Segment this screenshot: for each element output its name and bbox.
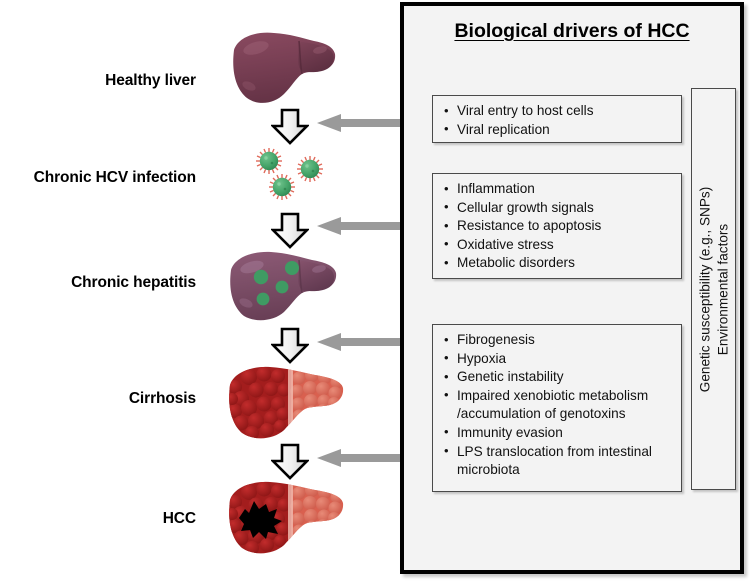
healthy-liver-icon — [228, 28, 338, 108]
inflammation-drivers-box: Inflammation Cellular growth signals Res… — [432, 173, 682, 279]
genetics-line-2: Environmental factors — [714, 186, 732, 392]
bullet-item: Inflammation — [443, 180, 677, 199]
bullet-item: Fibrogenesis — [443, 331, 677, 350]
stage-label-healthy-liver: Healthy liver — [0, 72, 196, 90]
bullet-item: Genetic instability — [443, 368, 677, 387]
stage-label-chronic-hepatitis: Chronic hepatitis — [0, 274, 196, 292]
bullet-item: Resistance to apoptosis — [443, 217, 677, 236]
stage-label-chronic-hcv-infection: Chronic HCV infection — [0, 169, 196, 187]
bullet-item: Viral replication — [443, 121, 677, 140]
cirrhotic-liver-icon — [225, 361, 347, 443]
genetics-line-1: Genetic susceptibility (e.g., SNPs) — [696, 186, 714, 392]
progression-down-arrow — [271, 212, 309, 249]
figure-canvas: Healthy liver Chronic HCV infection Chro… — [0, 0, 750, 582]
progression-down-arrow — [271, 443, 309, 480]
bullet-item: Immunity evasion — [443, 424, 677, 443]
hcc-tumor-liver-icon — [225, 476, 347, 558]
bullet-item: Metabolic disorders — [443, 254, 677, 273]
inflamed-liver-icon — [226, 246, 340, 324]
bullet-item: Viral entry to host cells — [443, 102, 677, 121]
fibrogenesis-drivers-box: Fibrogenesis Hypoxia Genetic instability… — [432, 324, 682, 492]
bullet-item: LPS translocation from intestinal microb… — [443, 443, 677, 480]
genetic-environmental-sidebar: Genetic susceptibility (e.g., SNPs) Envi… — [691, 88, 736, 490]
progression-down-arrow — [271, 327, 309, 364]
panel-title: Biological drivers of HCC — [404, 20, 740, 43]
bullet-item: Cellular growth signals — [443, 199, 677, 218]
stage-label-hcc: HCC — [0, 510, 196, 528]
hcv-virus-particles-icon — [252, 145, 336, 206]
progression-down-arrow — [271, 108, 309, 145]
bullet-item: Hypoxia — [443, 350, 677, 369]
bullet-item: Oxidative stress — [443, 236, 677, 255]
viral-drivers-box: Viral entry to host cells Viral replicat… — [432, 95, 682, 143]
bullet-item: Impaired xenobiotic metabolism /accumula… — [443, 387, 677, 424]
stage-label-cirrhosis: Cirrhosis — [0, 390, 196, 408]
